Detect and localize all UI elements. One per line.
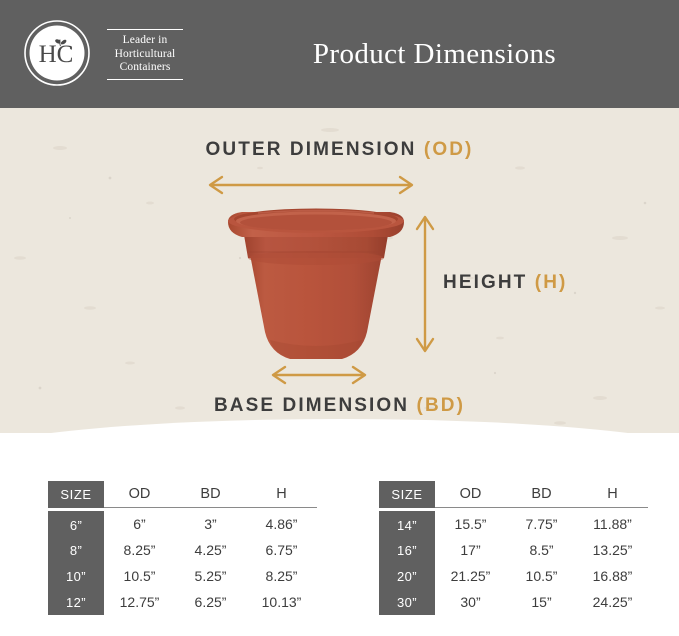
cell-od: 6” (104, 511, 175, 537)
cell-size: 20” (379, 563, 435, 589)
column-header-h: H (577, 481, 648, 508)
cell-bd: 4.25” (175, 537, 246, 563)
height-arrow-icon (414, 208, 436, 360)
cell-od: 8.25” (104, 537, 175, 563)
cell-od: 12.75” (104, 589, 175, 615)
cell-size: 10” (48, 563, 104, 589)
cell-bd: 5.25” (175, 563, 246, 589)
outer-dimension-code: (OD) (424, 139, 474, 160)
column-header-h: H (246, 481, 317, 508)
base-dimension-code: (BD) (417, 395, 466, 416)
table-header-row: SIZEODBDH (379, 481, 648, 508)
od-arrow-icon (200, 174, 422, 196)
cell-bd: 6.25” (175, 589, 246, 615)
base-dimension-text: BASE DIMENSION (214, 395, 409, 416)
height-text: HEIGHT (443, 272, 527, 293)
base-dimension-label: BASE DIMENSION (BD) (0, 395, 679, 417)
bd-arrow-icon (264, 364, 374, 386)
cell-h: 11.88” (577, 511, 648, 537)
terracotta-flower-pot-icon (218, 200, 414, 380)
height-label: HEIGHT (H) (443, 272, 567, 294)
table-row: 30”30”15”24.25” (379, 589, 648, 615)
page-title: Product Dimensions (0, 0, 679, 108)
table-row: 16”17”8.5”13.25” (379, 537, 648, 563)
size-table-large: SIZEODBDH14”15.5”7.75”11.88”16”17”8.5”13… (379, 481, 648, 615)
cell-bd: 10.5” (506, 563, 577, 589)
cell-size: 14” (379, 511, 435, 537)
size-table-small: SIZEODBDH6”6”3”4.86”8”8.25”4.25”6.75”10”… (48, 481, 317, 615)
table-header-row: SIZEODBDH (48, 481, 317, 508)
column-header-od: OD (104, 481, 175, 508)
cell-od: 21.25” (435, 563, 506, 589)
cell-h: 10.13” (246, 589, 317, 615)
cell-size: 16” (379, 537, 435, 563)
cell-h: 16.88” (577, 563, 648, 589)
cell-h: 13.25” (577, 537, 648, 563)
cell-h: 8.25” (246, 563, 317, 589)
header-bar: HC Leader in Horticultural Containers Pr… (0, 0, 679, 108)
table-row: 8”8.25”4.25”6.75” (48, 537, 317, 563)
column-header-size: SIZE (48, 481, 104, 508)
cell-bd: 7.75” (506, 511, 577, 537)
column-header-size: SIZE (379, 481, 435, 508)
column-header-bd: BD (506, 481, 577, 508)
table-row: 12”12.75”6.25”10.13” (48, 589, 317, 615)
column-header-bd: BD (175, 481, 246, 508)
table-row: 6”6”3”4.86” (48, 511, 317, 537)
cell-od: 30” (435, 589, 506, 615)
cell-bd: 3” (175, 511, 246, 537)
outer-dimension-label: OUTER DIMENSION (OD) (0, 139, 679, 161)
table-row: 14”15.5”7.75”11.88” (379, 511, 648, 537)
cell-bd: 15” (506, 589, 577, 615)
diagram-panel: OUTER DIMENSION (OD) (0, 108, 679, 433)
cell-od: 15.5” (435, 511, 506, 537)
cell-h: 6.75” (246, 537, 317, 563)
cell-od: 17” (435, 537, 506, 563)
cell-od: 10.5” (104, 563, 175, 589)
cell-size: 8” (48, 537, 104, 563)
table-row: 10”10.5”5.25”8.25” (48, 563, 317, 589)
cell-h: 24.25” (577, 589, 648, 615)
cell-size: 6” (48, 511, 104, 537)
cell-h: 4.86” (246, 511, 317, 537)
outer-dimension-text: OUTER DIMENSION (206, 139, 417, 160)
cell-bd: 8.5” (506, 537, 577, 563)
column-header-od: OD (435, 481, 506, 508)
cell-size: 30” (379, 589, 435, 615)
table-row: 20”21.25”10.5”16.88” (379, 563, 648, 589)
height-code: (H) (535, 272, 568, 293)
cell-size: 12” (48, 589, 104, 615)
